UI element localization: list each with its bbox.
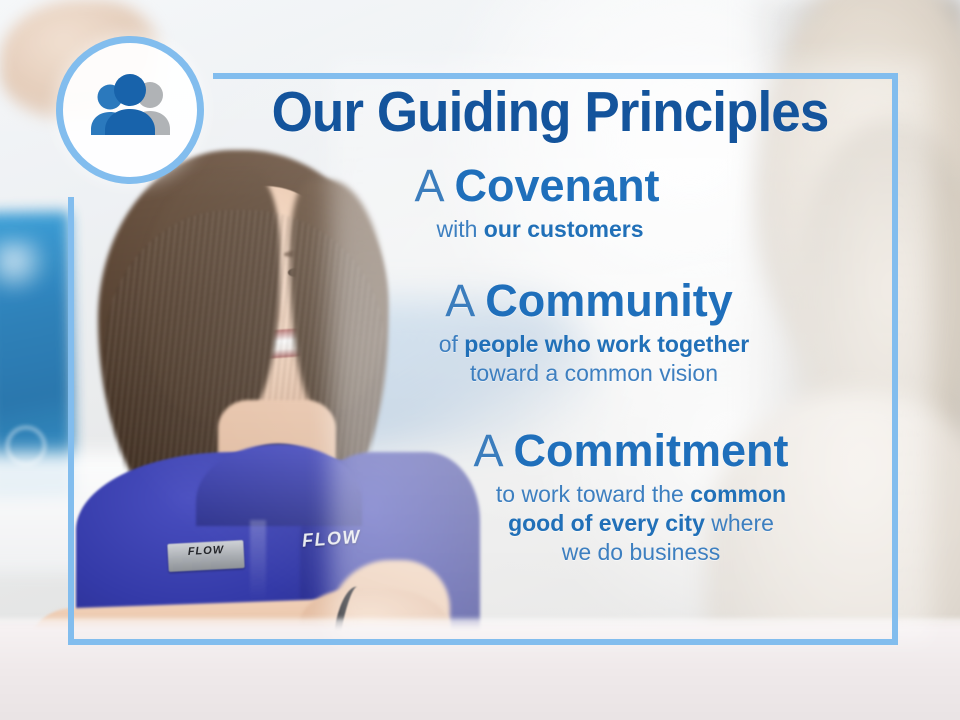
display-screen-highlight: [0, 238, 50, 296]
principle-community-article: A: [445, 275, 473, 326]
text-content: Our Guiding Principles A Covenant with o…: [200, 84, 900, 566]
foreground-table: [0, 622, 960, 720]
people-group-icon-badge: [56, 36, 204, 184]
principle-covenant-article: A: [414, 160, 442, 211]
principle-commitment-subtext: to work toward the commongood of every c…: [200, 480, 900, 567]
principle-commitment: A Commitment to work toward the commongo…: [200, 428, 900, 567]
principle-community-word: Community: [485, 275, 733, 326]
principle-commitment-word: Commitment: [514, 425, 789, 476]
principle-covenant-subtext: with our customers: [200, 215, 874, 244]
poster-canvas: FLOW FLOW: [0, 0, 960, 720]
principle-covenant-word: Covenant: [455, 160, 660, 211]
principle-community: A Community of people who work togethert…: [200, 278, 900, 388]
people-group-icon: [82, 73, 178, 147]
principle-community-heading: A Community: [200, 278, 900, 324]
principle-commitment-article: A: [473, 425, 501, 476]
principle-covenant-heading: A Covenant: [200, 163, 874, 209]
principle-commitment-heading: A Commitment: [200, 428, 900, 474]
principle-community-subtext: of people who work togethertoward a comm…: [200, 330, 900, 388]
principle-covenant: A Covenant with our customers: [200, 163, 900, 244]
page-title: Our Guiding Principles: [225, 84, 876, 141]
